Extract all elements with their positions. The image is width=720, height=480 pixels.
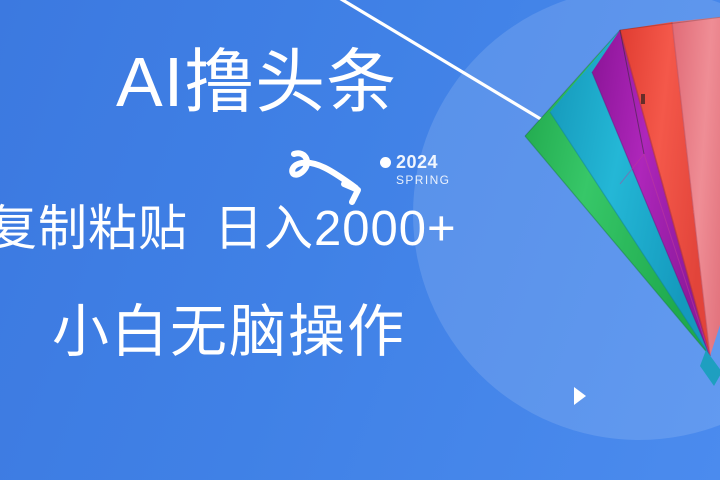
subline-copy-paste: 复制粘贴日入2000+ [0,205,457,254]
curved-arrow-icon [276,148,376,210]
badge-year-row: 2024 [380,153,450,171]
badge-dot-icon [380,157,391,168]
badge-season: SPRING [396,174,450,186]
play-triangle-cursor [573,386,587,406]
decorative-circle [413,0,720,440]
badge-year: 2024 [396,153,438,171]
kite-illustration [470,0,720,394]
season-badge: 2024 SPRING [380,153,450,186]
page-title: AI撸头条 [116,47,397,117]
poster-canvas: AI撸头条 2024 SPRING 复制粘贴日入2000+ 小白无脑操作 [0,0,720,480]
subline-right: 日入2000+ [214,202,457,256]
subline-left: 复制粘贴 [0,202,188,256]
subline-beginner: 小白无脑操作 [52,304,406,361]
